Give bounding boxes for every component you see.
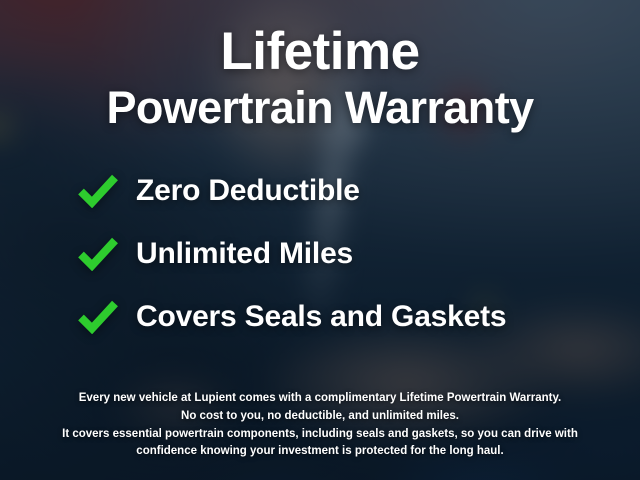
benefit-label: Covers Seals and Gaskets: [136, 300, 506, 334]
headline-line-2: Powertrain Warranty: [0, 86, 640, 130]
body-copy-line: It covers essential powertrain component…: [24, 426, 616, 444]
benefit-list: Zero Deductible Unlimited Miles Covers S…: [0, 174, 640, 334]
benefit-label: Unlimited Miles: [136, 237, 353, 271]
benefit-item-covers-seals-and-gaskets: Covers Seals and Gaskets: [78, 300, 506, 334]
body-copy-line: confidence knowing your investment is pr…: [24, 443, 616, 461]
body-copy: Every new vehicle at Lupient comes with …: [24, 390, 616, 461]
body-copy-line: Every new vehicle at Lupient comes with …: [24, 390, 616, 408]
benefit-item-zero-deductible: Zero Deductible: [78, 174, 360, 208]
headline-line-1: Lifetime: [0, 26, 640, 78]
lifetime-powertrain-warranty-banner: Lifetime Powertrain Warranty Zero Deduct…: [0, 0, 640, 480]
green-check-icon: [78, 300, 118, 334]
green-check-icon: [78, 237, 118, 271]
banner-content: Lifetime Powertrain Warranty Zero Deduct…: [0, 0, 640, 480]
green-check-icon: [78, 174, 118, 208]
benefit-item-unlimited-miles: Unlimited Miles: [78, 237, 353, 271]
headline: Lifetime Powertrain Warranty: [0, 26, 640, 130]
body-copy-line: No cost to you, no deductible, and unlim…: [24, 408, 616, 426]
benefit-label: Zero Deductible: [136, 174, 360, 208]
